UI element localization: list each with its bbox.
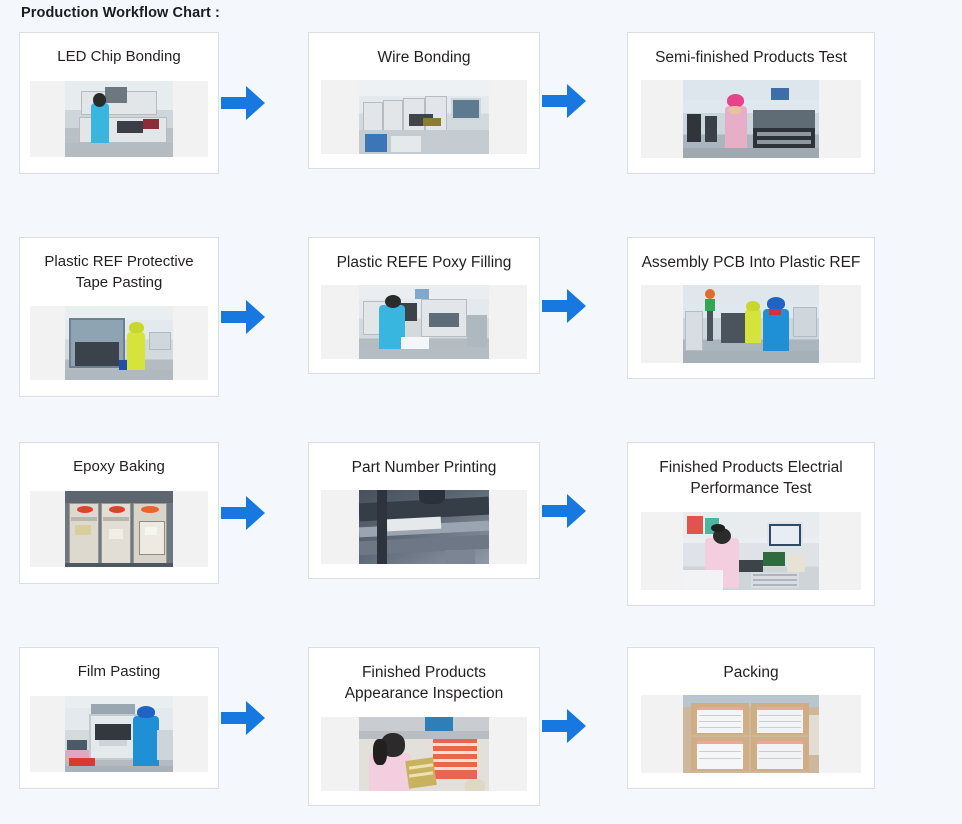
workflow-cell: Wire Bonding: [304, 32, 620, 169]
card-title: Plastic REFE Poxy Filling: [309, 238, 539, 273]
workflow-cell: Plastic REF Protective Tape Pasting: [0, 237, 304, 397]
card-photo-band: [641, 285, 861, 363]
arrow-right-icon: [540, 79, 588, 123]
arrow-right-icon: [219, 295, 267, 339]
card-photo-band: [321, 490, 527, 564]
arrow-right-icon: [219, 696, 267, 740]
workflow-cell: Epoxy Baking: [0, 442, 304, 584]
workflow-card-finished-products-electrial-performance-test[interactable]: Finished Products Electrial Performance …: [627, 442, 875, 606]
workflow-cell: Finished Products Appearance Inspection: [304, 647, 620, 806]
card-title: Wire Bonding: [309, 33, 539, 68]
card-title: Finished Products Appearance Inspection: [309, 648, 539, 705]
workflow-grid: LED Chip Bonding: [0, 32, 962, 824]
card-title: Assembly PCB Into Plastic REF: [628, 238, 874, 273]
production-workflow-chart-page: Production Workflow Chart : LED Chip Bon…: [0, 0, 962, 824]
workflow-card-finished-products-appearance-inspection[interactable]: Finished Products Appearance Inspection: [308, 647, 540, 806]
card-photo-band: [30, 306, 208, 380]
card-photo-band: [641, 512, 861, 590]
photo-operator-blue-coat-epoxy-filling: [359, 285, 489, 359]
workflow-cell: Plastic REFE Poxy Filling: [304, 237, 620, 374]
card-title: Epoxy Baking: [20, 443, 218, 478]
workflow-card-assembly-pcb-into-plastic-ref[interactable]: Assembly PCB Into Plastic REF: [627, 237, 875, 379]
page-title: Production Workflow Chart :: [21, 5, 220, 21]
photo-operator-inspecting-panel-stacks: [359, 717, 489, 791]
workflow-cell: Film Pasting: [0, 647, 304, 789]
card-title: Film Pasting: [20, 648, 218, 683]
card-title: Finished Products Electrial Performance …: [628, 443, 874, 500]
workflow-cell: LED Chip Bonding: [0, 32, 304, 174]
workflow-card-part-number-printing[interactable]: Part Number Printing: [308, 442, 540, 579]
workflow-card-plastic-refe-poxy-filling[interactable]: Plastic REFE Poxy Filling: [308, 237, 540, 374]
workflow-card-epoxy-baking[interactable]: Epoxy Baking: [19, 442, 219, 584]
workflow-card-wire-bonding[interactable]: Wire Bonding: [308, 32, 540, 169]
photo-operator-blue-coat-film-machine: [65, 696, 173, 772]
arrow-right-icon: [540, 489, 588, 533]
workflow-cell: Semi-finished Products Test: [620, 32, 962, 174]
card-title: Part Number Printing: [309, 443, 539, 478]
workflow-card-semi-finished-products-test[interactable]: Semi-finished Products Test: [627, 32, 875, 174]
arrow-right-icon: [219, 491, 267, 535]
photo-two-operators-assembly-line: [683, 285, 819, 363]
card-photo-band: [30, 696, 208, 772]
workflow-cell: Part Number Printing: [304, 442, 620, 579]
card-photo-band: [30, 491, 208, 567]
workflow-row: Epoxy Baking: [0, 442, 962, 647]
workflow-row: Plastic REF Protective Tape Pasting: [0, 237, 962, 442]
card-photo-band: [321, 285, 527, 359]
workflow-cell: Finished Products Electrial Performance …: [620, 442, 962, 606]
card-photo-band: [641, 80, 861, 158]
card-photo-band: [321, 717, 527, 791]
arrow-right-icon: [219, 81, 267, 125]
arrow-right-icon: [540, 704, 588, 748]
card-title: Plastic REF Protective Tape Pasting: [20, 238, 218, 293]
card-photo-band: [641, 695, 861, 773]
workflow-card-led-chip-bonding[interactable]: LED Chip Bonding: [19, 32, 219, 174]
card-photo-band: [30, 81, 208, 157]
photo-operator-at-chip-bonder: [65, 81, 173, 157]
workflow-card-film-pasting[interactable]: Film Pasting: [19, 647, 219, 789]
photo-wire-bonding-machine-row: [359, 80, 489, 154]
card-title: Semi-finished Products Test: [628, 33, 874, 68]
workflow-cell: Assembly PCB Into Plastic REF: [620, 237, 962, 379]
photo-operator-pink-coat-testing-boards: [683, 80, 819, 158]
workflow-card-packing[interactable]: Packing: [627, 647, 875, 789]
photo-operator-at-test-station-monitor: [683, 512, 819, 590]
photo-three-baking-ovens: [65, 491, 173, 567]
card-title: LED Chip Bonding: [20, 33, 218, 68]
photo-operator-yellow-coat-at-machine: [65, 306, 173, 380]
card-title: Packing: [628, 648, 874, 683]
workflow-card-plastic-ref-protective-tape-pasting[interactable]: Plastic REF Protective Tape Pasting: [19, 237, 219, 397]
workflow-row: Film Pasting: [0, 647, 962, 824]
photo-cartons-with-packed-product: [683, 695, 819, 773]
workflow-cell: Packing: [620, 647, 962, 789]
workflow-row: LED Chip Bonding: [0, 32, 962, 237]
photo-printing-machine-closeup: [359, 490, 489, 564]
card-photo-band: [321, 80, 527, 154]
arrow-right-icon: [540, 284, 588, 328]
